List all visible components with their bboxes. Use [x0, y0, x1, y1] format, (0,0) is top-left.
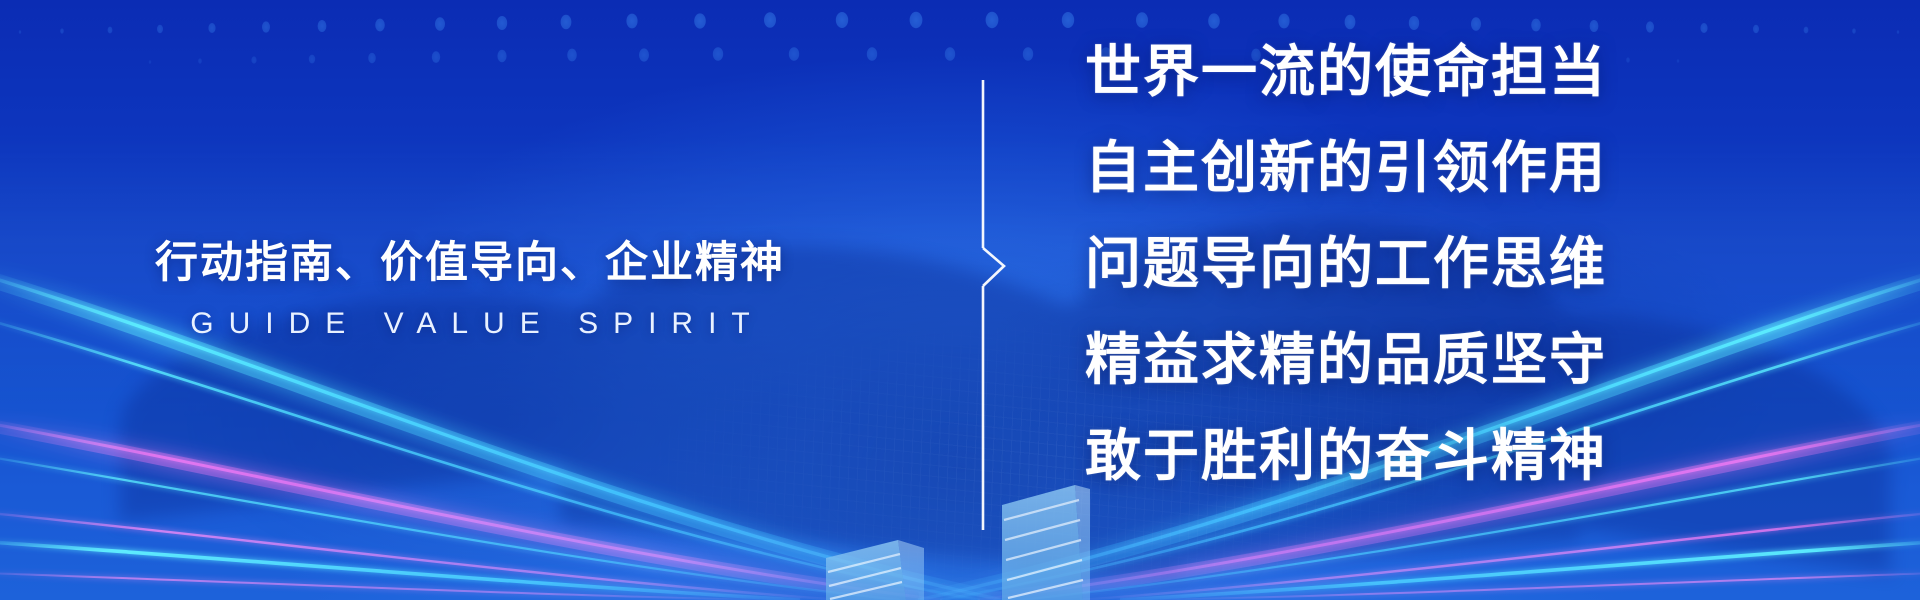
chevron-right-icon — [983, 248, 1004, 286]
left-headline: 行动指南、价值导向、企业精神 — [0, 240, 940, 287]
slogan-line-2: 自主创新的引领作用 — [1085, 140, 1745, 196]
vertical-divider — [960, 80, 1020, 530]
corporate-culture-banner: 行动指南、价值导向、企业精神 GUIDE VALUE SPIRIT 世界一流的使… — [0, 0, 1920, 600]
right-slogan-block: 世界一流的使命担当 自主创新的引领作用 问题导向的工作思维 精益求精的品质坚守 … — [1085, 44, 1745, 484]
slogan-line-1: 世界一流的使命担当 — [1085, 44, 1745, 100]
left-text-block: 行动指南、价值导向、企业精神 GUIDE VALUE SPIRIT — [0, 240, 940, 339]
slogan-line-4: 精益求精的品质坚守 — [1085, 332, 1745, 388]
slogan-line-3: 问题导向的工作思维 — [1085, 236, 1745, 292]
left-subheadline-english: GUIDE VALUE SPIRIT — [0, 309, 940, 339]
slogan-line-5: 敢于胜利的奋斗精神 — [1085, 428, 1745, 484]
